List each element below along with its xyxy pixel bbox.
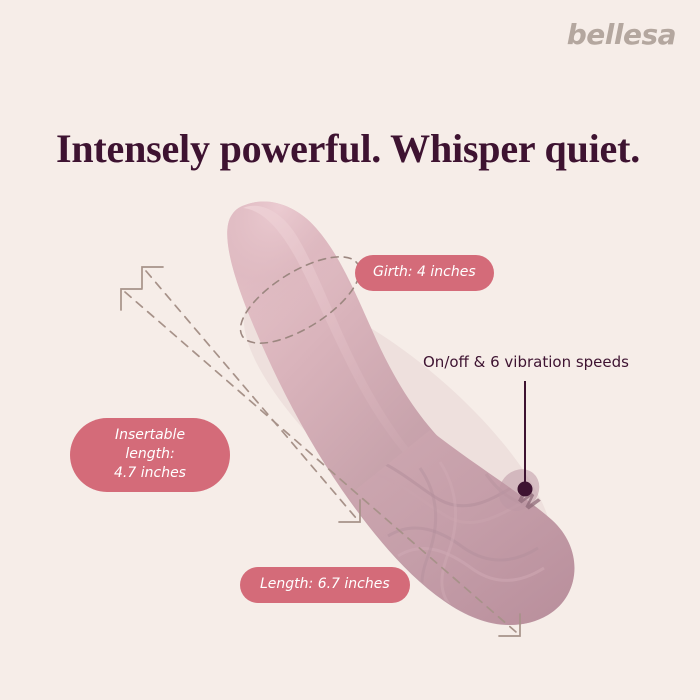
brand-logo: bellesa — [567, 18, 676, 51]
badge-total-length: Length: 6.7 inches — [240, 567, 410, 603]
page-headline: Intensely powerful. Whisper quiet. — [56, 125, 656, 173]
badge-length-line-1: Length: 6.7 inches — [260, 575, 390, 594]
badge-insertable-line-2: 4.7 inches — [90, 464, 210, 483]
badge-girth: Girth: 4 inches — [355, 255, 494, 291]
badge-girth-line-1: Girth: 4 inches — [373, 263, 476, 282]
callout-vibration-speeds: On/off & 6 vibration speeds — [423, 353, 629, 371]
badge-insertable-line-1: Insertable length: — [90, 426, 210, 464]
badge-insertable-length: Insertable length: 4.7 inches — [70, 418, 230, 492]
infographic-canvas: W bellesa Intensely powerful. Whisper qu… — [0, 0, 700, 700]
